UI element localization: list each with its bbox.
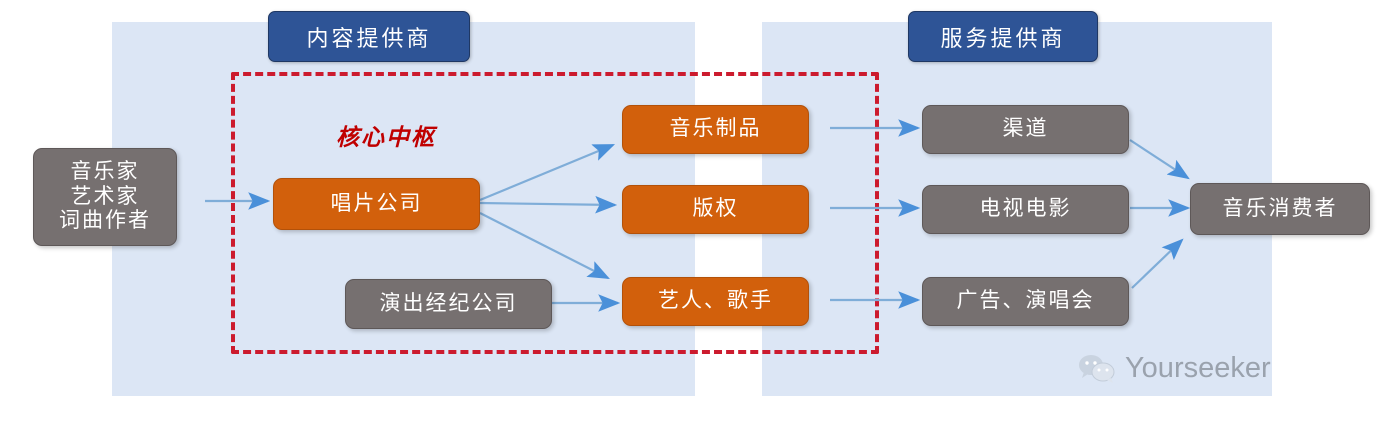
header-service-provider: 服务提供商 xyxy=(908,11,1098,62)
node-copyright[interactable]: 版权 xyxy=(622,185,809,234)
node-artists-singers-label: 艺人、歌手 xyxy=(658,289,773,314)
node-creators[interactable]: 音乐家 艺术家 词曲作者 xyxy=(33,148,177,246)
node-music-consumers[interactable]: 音乐消费者 xyxy=(1190,183,1370,235)
node-artists-singers[interactable]: 艺人、歌手 xyxy=(622,277,809,326)
node-tv-film[interactable]: 电视电影 xyxy=(922,185,1129,234)
node-record-company-label: 唱片公司 xyxy=(331,192,423,217)
node-music-products-label: 音乐制品 xyxy=(670,117,762,142)
node-tv-film-label: 电视电影 xyxy=(980,197,1072,222)
header-content-provider: 内容提供商 xyxy=(268,11,470,62)
node-creators-line-2: 艺术家 xyxy=(71,185,140,210)
node-music-consumers-label: 音乐消费者 xyxy=(1223,197,1338,222)
node-creators-line-3: 词曲作者 xyxy=(59,209,151,234)
node-performance-agency[interactable]: 演出经纪公司 xyxy=(345,279,552,329)
watermark: Yourseeker xyxy=(1078,352,1271,385)
node-ads-concerts-label: 广告、演唱会 xyxy=(957,289,1095,314)
node-creators-line-1: 音乐家 xyxy=(71,160,140,185)
node-channels-label: 渠道 xyxy=(1003,117,1049,142)
node-record-company[interactable]: 唱片公司 xyxy=(273,178,480,230)
header-service-provider-label: 服务提供商 xyxy=(940,21,1065,53)
node-ads-concerts[interactable]: 广告、演唱会 xyxy=(922,277,1129,326)
node-channels[interactable]: 渠道 xyxy=(922,105,1129,154)
node-music-products[interactable]: 音乐制品 xyxy=(622,105,809,154)
diagram-canvas: 内容提供商 服务提供商 核心中枢 音乐家 艺术家 词曲作者 xyxy=(0,0,1397,427)
core-hub-label: 核心中枢 xyxy=(336,118,436,152)
header-content-provider-label: 内容提供商 xyxy=(306,21,431,53)
node-performance-agency-label: 演出经纪公司 xyxy=(380,292,518,317)
wechat-icon xyxy=(1078,353,1116,385)
watermark-text: Yourseeker xyxy=(1125,352,1271,385)
node-copyright-label: 版权 xyxy=(693,197,739,222)
